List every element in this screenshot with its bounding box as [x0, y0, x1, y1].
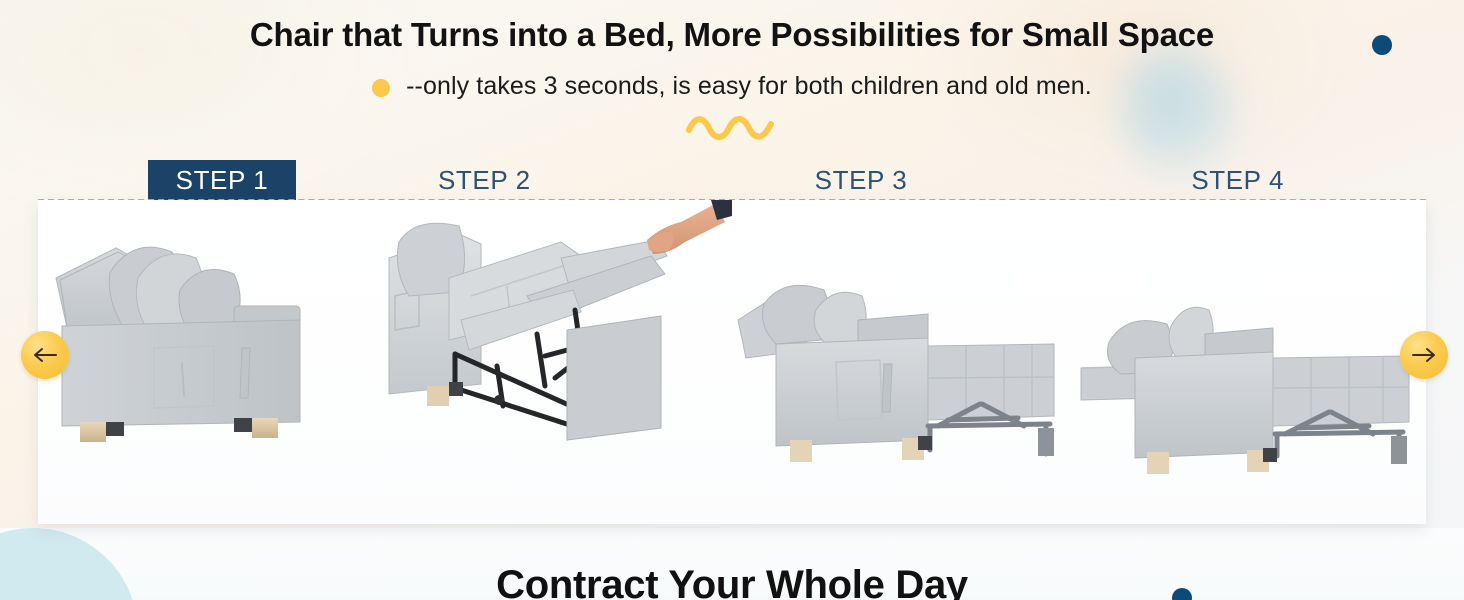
chair-unfolding-image	[385, 200, 732, 524]
page-subtitle: --only takes 3 seconds, is easy for both…	[406, 72, 1092, 101]
chair-chaise-image	[732, 200, 1079, 524]
gallery-slide-4[interactable]	[1079, 200, 1426, 524]
dot-icon-navy	[1372, 35, 1392, 55]
next-section-title: Contract Your Whole Day	[0, 563, 1464, 600]
gallery-slide-2[interactable]	[385, 200, 732, 524]
gallery-prev-button[interactable]	[21, 331, 69, 379]
promo-banner: Chair that Turns into a Bed, More Possib…	[0, 0, 1464, 600]
arrow-right-icon	[1411, 346, 1437, 364]
gallery-slide-1[interactable]	[38, 200, 385, 524]
tab-step-2[interactable]: STEP 2	[296, 160, 673, 200]
tab-step-1-label: STEP 1	[148, 160, 296, 200]
gallery-next-button[interactable]	[1400, 331, 1448, 379]
page-title: Chair that Turns into a Bed, More Possib…	[0, 16, 1464, 54]
tab-step-1[interactable]: STEP 1	[38, 160, 296, 200]
tab-step-4[interactable]: STEP 4	[1049, 160, 1426, 200]
subtitle-row: --only takes 3 seconds, is easy for both…	[0, 72, 1464, 101]
arrow-left-icon	[32, 346, 58, 364]
chair-flat-bed-image	[1079, 200, 1426, 524]
chair-closed-image	[38, 200, 385, 524]
tab-step-3-label: STEP 3	[815, 165, 908, 196]
dot-icon-gold	[372, 79, 390, 97]
step-tabs: STEP 1 STEP 2 STEP 3 STEP 4	[38, 160, 1426, 200]
gallery-slide-3[interactable]	[732, 200, 1079, 524]
tab-step-3[interactable]: STEP 3	[673, 160, 1050, 200]
gallery-panel	[38, 200, 1426, 524]
tab-step-2-label: STEP 2	[438, 165, 531, 196]
tab-step-4-label: STEP 4	[1191, 165, 1284, 196]
wavy-line-icon	[686, 112, 780, 142]
